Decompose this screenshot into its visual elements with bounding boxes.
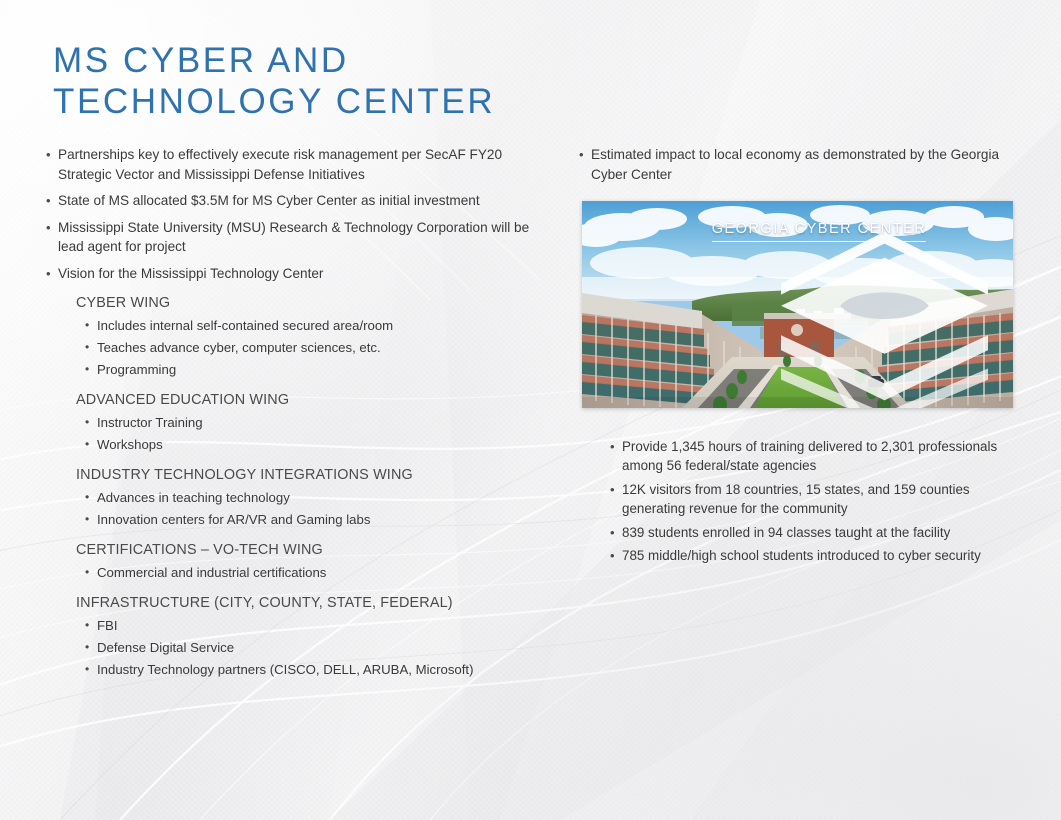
list-item: 839 students enrolled in 94 classes taug… bbox=[608, 523, 1008, 542]
list-item: Workshops bbox=[83, 435, 544, 454]
georgia-cyber-center-photo: GEORGIA CYBER CENTER bbox=[582, 201, 1013, 408]
list-item: Defense Digital Service bbox=[83, 638, 544, 657]
list-item: Estimated impact to local economy as dem… bbox=[577, 145, 1017, 184]
wing-section-group: CYBER WING Includes internal self-contai… bbox=[76, 293, 544, 679]
right-intro-column: Estimated impact to local economy as dem… bbox=[577, 145, 1017, 191]
list-item: State of MS allocated $3.5M for MS Cyber… bbox=[44, 191, 544, 211]
list-item: FBI bbox=[83, 616, 544, 635]
list-item: Provide 1,345 hours of training delivere… bbox=[608, 437, 1008, 476]
list-item: Advances in teaching technology bbox=[83, 488, 544, 507]
list-item: Teaches advance cyber, computer sciences… bbox=[83, 338, 544, 357]
section-heading-advanced-education-wing: ADVANCED EDUCATION WING bbox=[76, 390, 544, 410]
list-item: 785 middle/high school students introduc… bbox=[608, 546, 1008, 565]
list-item: 12K visitors from 18 countries, 15 state… bbox=[608, 480, 1008, 519]
section-heading-cyber-wing: CYBER WING bbox=[76, 293, 544, 313]
list-item: Commercial and industrial certifications bbox=[83, 563, 544, 582]
page-title: MS CYBER AND TECHNOLOGY CENTER bbox=[53, 40, 613, 122]
section-heading-certifications-vo-tech-wing: CERTIFICATIONS – VO-TECH WING bbox=[76, 540, 544, 560]
section-heading-infrastructure: INFRASTRUCTURE (CITY, COUNTY, STATE, FED… bbox=[76, 593, 544, 613]
list-item: Innovation centers for AR/VR and Gaming … bbox=[83, 510, 544, 529]
left-content-column: Partnerships key to effectively execute … bbox=[44, 145, 544, 682]
list-item: Programming bbox=[83, 360, 544, 379]
list-item: Partnerships key to effectively execute … bbox=[44, 145, 544, 184]
list-item: Mississippi State University (MSU) Resea… bbox=[44, 218, 544, 257]
list-item: Includes internal self-contained secured… bbox=[83, 316, 544, 335]
list-item: Instructor Training bbox=[83, 413, 544, 432]
section-heading-industry-technology-integrations-wing: INDUSTRY TECHNOLOGY INTEGRATIONS WING bbox=[76, 465, 544, 485]
slide-canvas: MS CYBER AND TECHNOLOGY CENTER Partnersh… bbox=[0, 0, 1061, 820]
impact-stats-list: Provide 1,345 hours of training delivere… bbox=[608, 437, 1008, 569]
list-item: Industry Technology partners (CISCO, DEL… bbox=[83, 660, 544, 679]
list-item: Vision for the Mississippi Technology Ce… bbox=[44, 264, 544, 284]
